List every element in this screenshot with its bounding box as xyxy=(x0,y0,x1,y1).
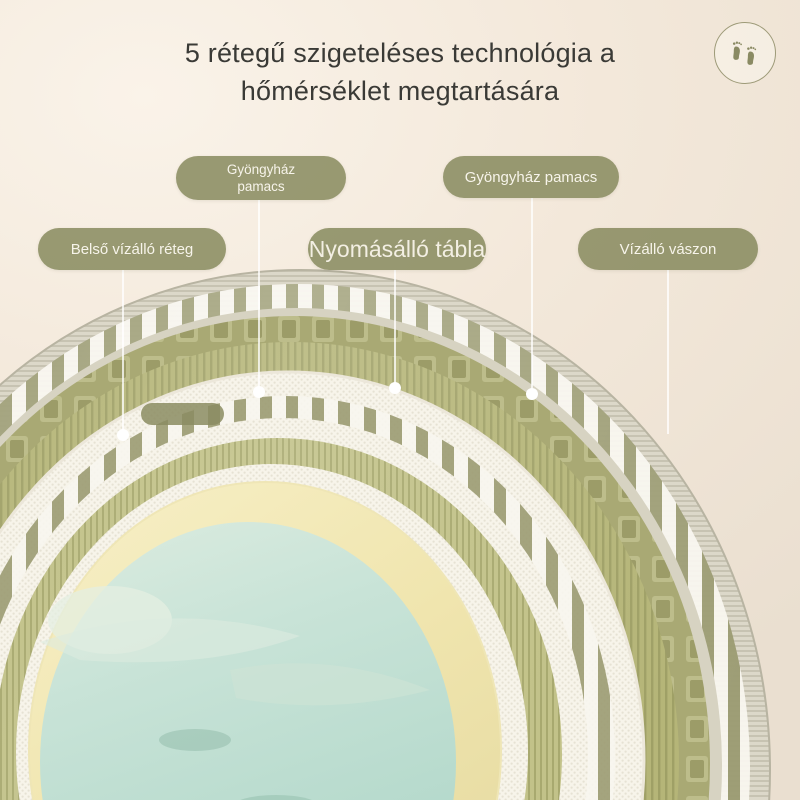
page-title-line-1: 5 rétegű szigeteléses technológia a xyxy=(0,34,800,72)
page-title: 5 rétegű szigeteléses technológia a hőmé… xyxy=(0,34,800,110)
infographic-canvas: 5 rétegű szigeteléses technológia a hőmé… xyxy=(0,0,800,800)
label-pearl-swab-right[interactable]: Gyöngyház pamacs xyxy=(443,156,619,198)
label-text-line-2: pamacs xyxy=(227,178,295,195)
label-pressure-resistant-board[interactable]: Nyomásálló tábla xyxy=(308,228,486,270)
label-text-line-1: Gyöngyház xyxy=(227,161,295,178)
label-inner-waterproof-layer[interactable]: Belső vízálló réteg xyxy=(38,228,226,270)
label-text: Gyöngyház pamacs xyxy=(465,169,598,186)
label-pearl-swab-left[interactable]: Gyöngyház pamacs xyxy=(176,156,346,200)
label-text: Belső vízálló réteg xyxy=(71,241,194,258)
label-waterproof-canvas[interactable]: Vízálló vászon xyxy=(578,228,758,270)
label-text: Nyomásálló tábla xyxy=(309,236,485,262)
page-title-line-2: hőmérséklet megtartására xyxy=(0,72,800,110)
footprints-badge xyxy=(714,22,776,84)
label-text: Vízálló vászon xyxy=(620,241,717,258)
footprints-icon xyxy=(728,36,762,70)
